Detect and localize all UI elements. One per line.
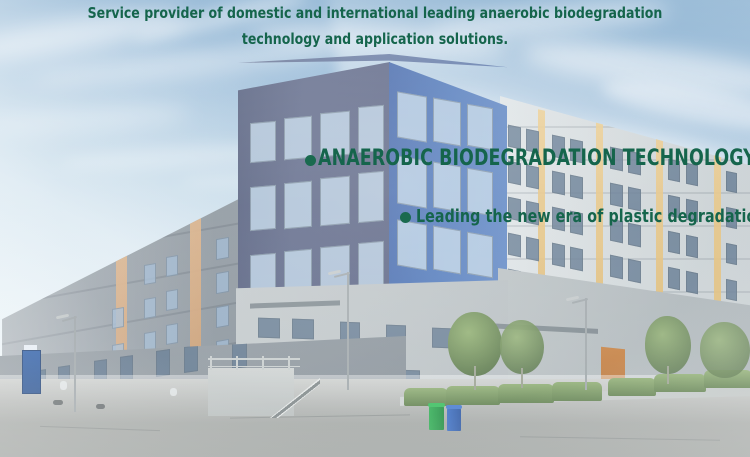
ground-object-2 <box>96 404 105 409</box>
dock-post-3 <box>262 356 264 370</box>
ground-object-4 <box>170 388 177 396</box>
dock-post-1 <box>210 356 212 370</box>
dock-rail-top <box>208 358 300 360</box>
bullet-icon-1 <box>305 155 316 166</box>
tagline-line-1: Service provider of domestic and interna… <box>38 0 713 26</box>
ground-object-1 <box>53 400 63 405</box>
bullet-icon-2 <box>400 212 411 223</box>
dock-post-2 <box>236 356 238 370</box>
hero-banner: Service provider of domestic and interna… <box>0 0 750 457</box>
headline-primary: ANAEROBIC BIODEGRADATION TECHNOLOGY <box>318 146 750 171</box>
banner-tagline: Service provider of domestic and interna… <box>0 0 750 52</box>
ground-object-3 <box>60 381 67 390</box>
dock-post-4 <box>288 356 290 370</box>
tagline-line-2: technology and application solutions. <box>38 26 713 52</box>
loading-dock <box>208 368 294 416</box>
headline-secondary: Leading the new era of plastic degradati… <box>416 206 750 227</box>
blue-signboard <box>22 350 41 394</box>
dock-rail-mid <box>208 366 300 367</box>
tower-face-left <box>238 62 390 298</box>
